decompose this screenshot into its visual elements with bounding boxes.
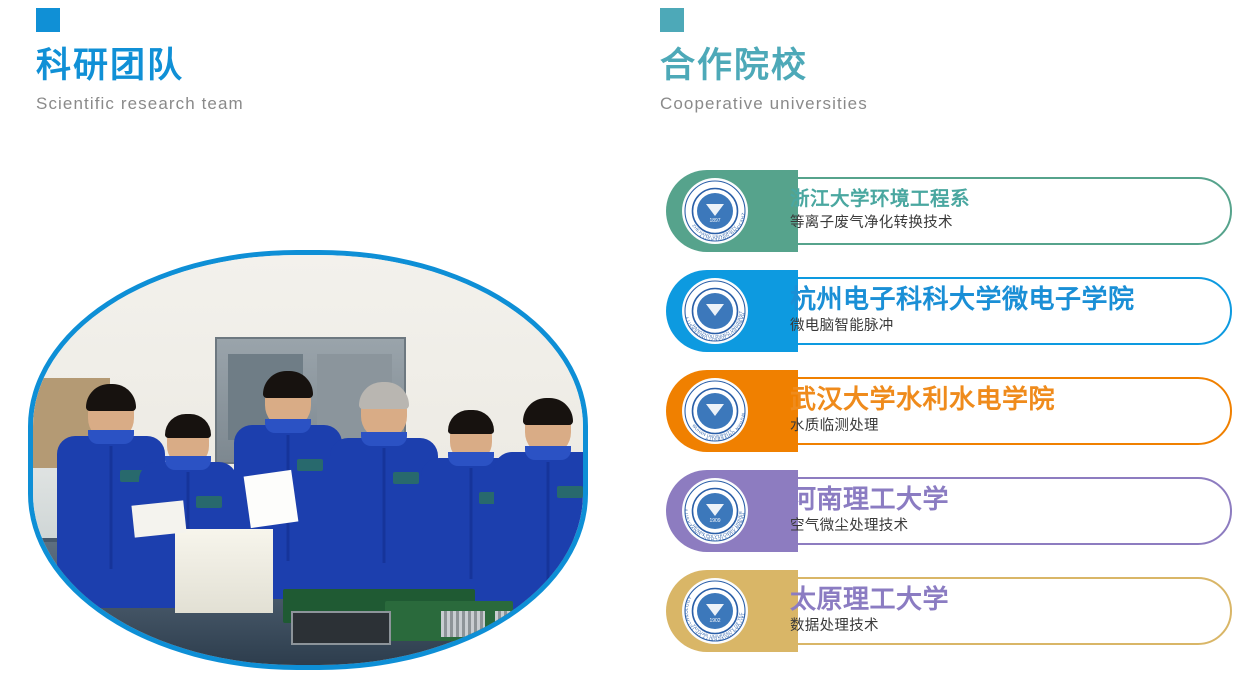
team-photo-frame [28, 250, 588, 670]
university-card[interactable]: TAIYUAN UNIVERSITY OF TECHNOLOGY TAIYUAN… [666, 570, 1232, 652]
section-title-en: Scientific research team [36, 94, 244, 114]
university-logo-block: ZHEJIANG UNIVERSITY ZHEJIANG UNIVERSITY … [666, 170, 798, 252]
university-card-text: 浙江大学环境工程系 等离子废气净化转换技术 [790, 177, 1198, 245]
photo-heatsink [495, 611, 531, 637]
section-header-research-team: 科研团队 Scientific research team [36, 8, 244, 114]
henan-polytechnic-university-logo: HENAN POLYTECHNIC UNIVERSITY HENAN POLYT… [682, 478, 748, 544]
university-logo: HANGZHOU DIANZI UNIVERSITY HANGZHOU DIAN… [682, 278, 748, 344]
university-name: 河南理工大学 [790, 485, 1198, 514]
university-logo-block: HENAN POLYTECHNIC UNIVERSITY HENAN POLYT… [666, 470, 798, 552]
university-logo: TAIYUAN UNIVERSITY OF TECHNOLOGY TAIYUAN… [682, 578, 748, 644]
university-name: 浙江大学环境工程系 [790, 189, 1198, 211]
university-card[interactable]: WUHAN UNIVERSITY WUHAN UNIVERSITY 武汉大学水利… [666, 370, 1232, 452]
wuhan-university-logo: WUHAN UNIVERSITY WUHAN UNIVERSITY [682, 378, 748, 444]
university-name: 武汉大学水利水电学院 [790, 385, 1198, 414]
university-technology: 水质临测处理 [790, 417, 1198, 437]
university-name: 杭州电子科科大学微电子学院 [790, 285, 1198, 314]
photo-display-module [291, 611, 391, 645]
university-logo-block: WUHAN UNIVERSITY WUHAN UNIVERSITY [666, 370, 798, 452]
university-technology: 数据处理技术 [790, 617, 1198, 637]
photo-paper-sheet [131, 500, 186, 537]
university-logo-block: HANGZHOU DIANZI UNIVERSITY HANGZHOU DIAN… [666, 270, 798, 352]
svg-text:1897: 1897 [709, 218, 720, 224]
page-root: 科研团队 Scientific research team 合作院校 Coope… [0, 0, 1242, 686]
university-card-text: 太原理工大学 数据处理技术 [790, 577, 1198, 645]
taiyuan-university-of-technology-logo: TAIYUAN UNIVERSITY OF TECHNOLOGY TAIYUAN… [682, 578, 748, 644]
university-card[interactable]: ZHEJIANG UNIVERSITY ZHEJIANG UNIVERSITY … [666, 170, 1232, 252]
university-technology: 空气微尘处理技术 [790, 517, 1198, 537]
section-title-en: Cooperative universities [660, 94, 868, 114]
university-name: 太原理工大学 [790, 585, 1198, 614]
university-technology: 等离子废气净化转换技术 [790, 214, 1198, 234]
svg-text:1909: 1909 [709, 518, 720, 524]
university-card-text: 河南理工大学 空气微尘处理技术 [790, 477, 1198, 545]
accent-square-icon [660, 8, 684, 32]
university-card[interactable]: HENAN POLYTECHNIC UNIVERSITY HENAN POLYT… [666, 470, 1232, 552]
section-header-cooperative-universities: 合作院校 Cooperative universities [660, 8, 868, 114]
team-photo [28, 250, 588, 670]
svg-text:1902: 1902 [709, 618, 720, 624]
hangzhou-dianzi-university-logo: HANGZHOU DIANZI UNIVERSITY HANGZHOU DIAN… [682, 278, 748, 344]
section-title-cn: 科研团队 [36, 48, 244, 85]
university-card-text: 武汉大学水利水电学院 水质临测处理 [790, 377, 1198, 445]
university-technology: 微电脑智能脉冲 [790, 317, 1198, 337]
university-logo-block: TAIYUAN UNIVERSITY OF TECHNOLOGY TAIYUAN… [666, 570, 798, 652]
university-logo: HENAN POLYTECHNIC UNIVERSITY HENAN POLYT… [682, 478, 748, 544]
accent-square-icon [36, 8, 60, 32]
team-photo-image [33, 255, 583, 665]
university-card[interactable]: HANGZHOU DIANZI UNIVERSITY HANGZHOU DIAN… [666, 270, 1232, 352]
section-title-cn: 合作院校 [660, 48, 868, 85]
university-card-text: 杭州电子科科大学微电子学院 微电脑智能脉冲 [790, 277, 1198, 345]
photo-white-box [175, 529, 273, 613]
zhejiang-university-logo: ZHEJIANG UNIVERSITY ZHEJIANG UNIVERSITY … [682, 178, 748, 244]
university-list: ZHEJIANG UNIVERSITY ZHEJIANG UNIVERSITY … [666, 170, 1232, 670]
university-logo: ZHEJIANG UNIVERSITY ZHEJIANG UNIVERSITY … [682, 178, 748, 244]
photo-heatsink [441, 611, 485, 637]
university-logo: WUHAN UNIVERSITY WUHAN UNIVERSITY [682, 378, 748, 444]
photo-paper-sheet [244, 470, 299, 528]
